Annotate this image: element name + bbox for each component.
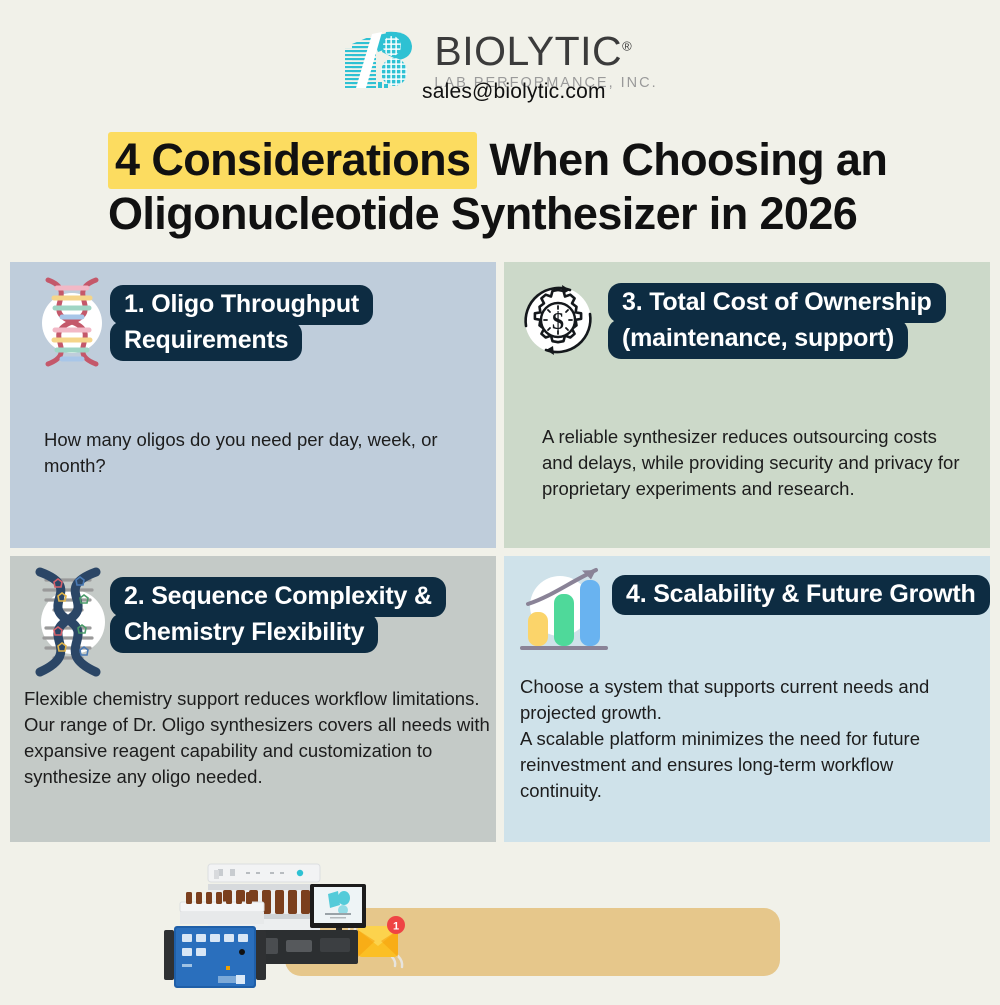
envelope-badge-count: 1 [393,921,399,933]
card-heading-pill: 4. Scalability & Future Growth [612,576,997,612]
svg-text:$: $ [552,309,564,335]
card-heading-pill: 1. Oligo Throughput Requirements [110,286,450,358]
card-heading-pill: 2. Sequence Complexity & Chemistry Flexi… [110,578,500,650]
title-line-1-rest: When Choosing an [477,134,887,185]
bar-chart-growth-icon [512,560,612,660]
contact-footer [0,846,1000,1000]
dna-helix-pink-icon [24,276,112,368]
brand-name: BIOLYTIC® [434,31,657,72]
oligo-synthesizer-instrument-photo [160,858,370,1000]
card-body-text: Choose a system that supports current ne… [520,674,975,804]
gear-dollar-clock-icon: $ [512,274,600,366]
title-highlight: 4 Considerations [108,132,477,189]
page-title: 4 Considerations When Choosing an Oligon… [108,133,928,241]
title-line-2: Oligonucleotide Synthesizer in 2026 [108,187,928,241]
biolytic-mark-icon [342,30,420,92]
card-heading-text: 4. Scalability & Future Growth [612,575,990,615]
registered-mark: ® [622,39,632,54]
card-oligo-throughput: 1. Oligo Throughput Requirements How man… [10,262,496,548]
email-address[interactable]: sales@biolytic.com [422,80,606,104]
card-heading-pill: 3. Total Cost of Ownership (maintenance,… [608,284,1000,356]
dna-helix-navy-icon [18,566,118,678]
considerations-grid: 1. Oligo Throughput Requirements How man… [10,262,990,842]
card-heading-text: 3. Total Cost of Ownership (maintenance,… [608,283,946,359]
card-scalability-future-growth: 4. Scalability & Future Growth Choose a … [504,556,990,842]
card-body-text: How many oligos do you need per day, wee… [44,427,464,479]
card-heading-text: 2. Sequence Complexity & Chemistry Flexi… [110,577,446,653]
card-body-text: Flexible chemistry support reduces workf… [24,686,494,790]
card-heading-text: 1. Oligo Throughput Requirements [110,285,373,361]
card-total-cost-of-ownership: $ 3. Total Cost of Ownership (maintenanc… [504,262,990,548]
card-body-text: A reliable synthesizer reduces outsourci… [542,424,972,502]
card-sequence-complexity: 2. Sequence Complexity & Chemistry Flexi… [10,556,496,842]
title-line-1: 4 Considerations When Choosing an [108,133,928,187]
